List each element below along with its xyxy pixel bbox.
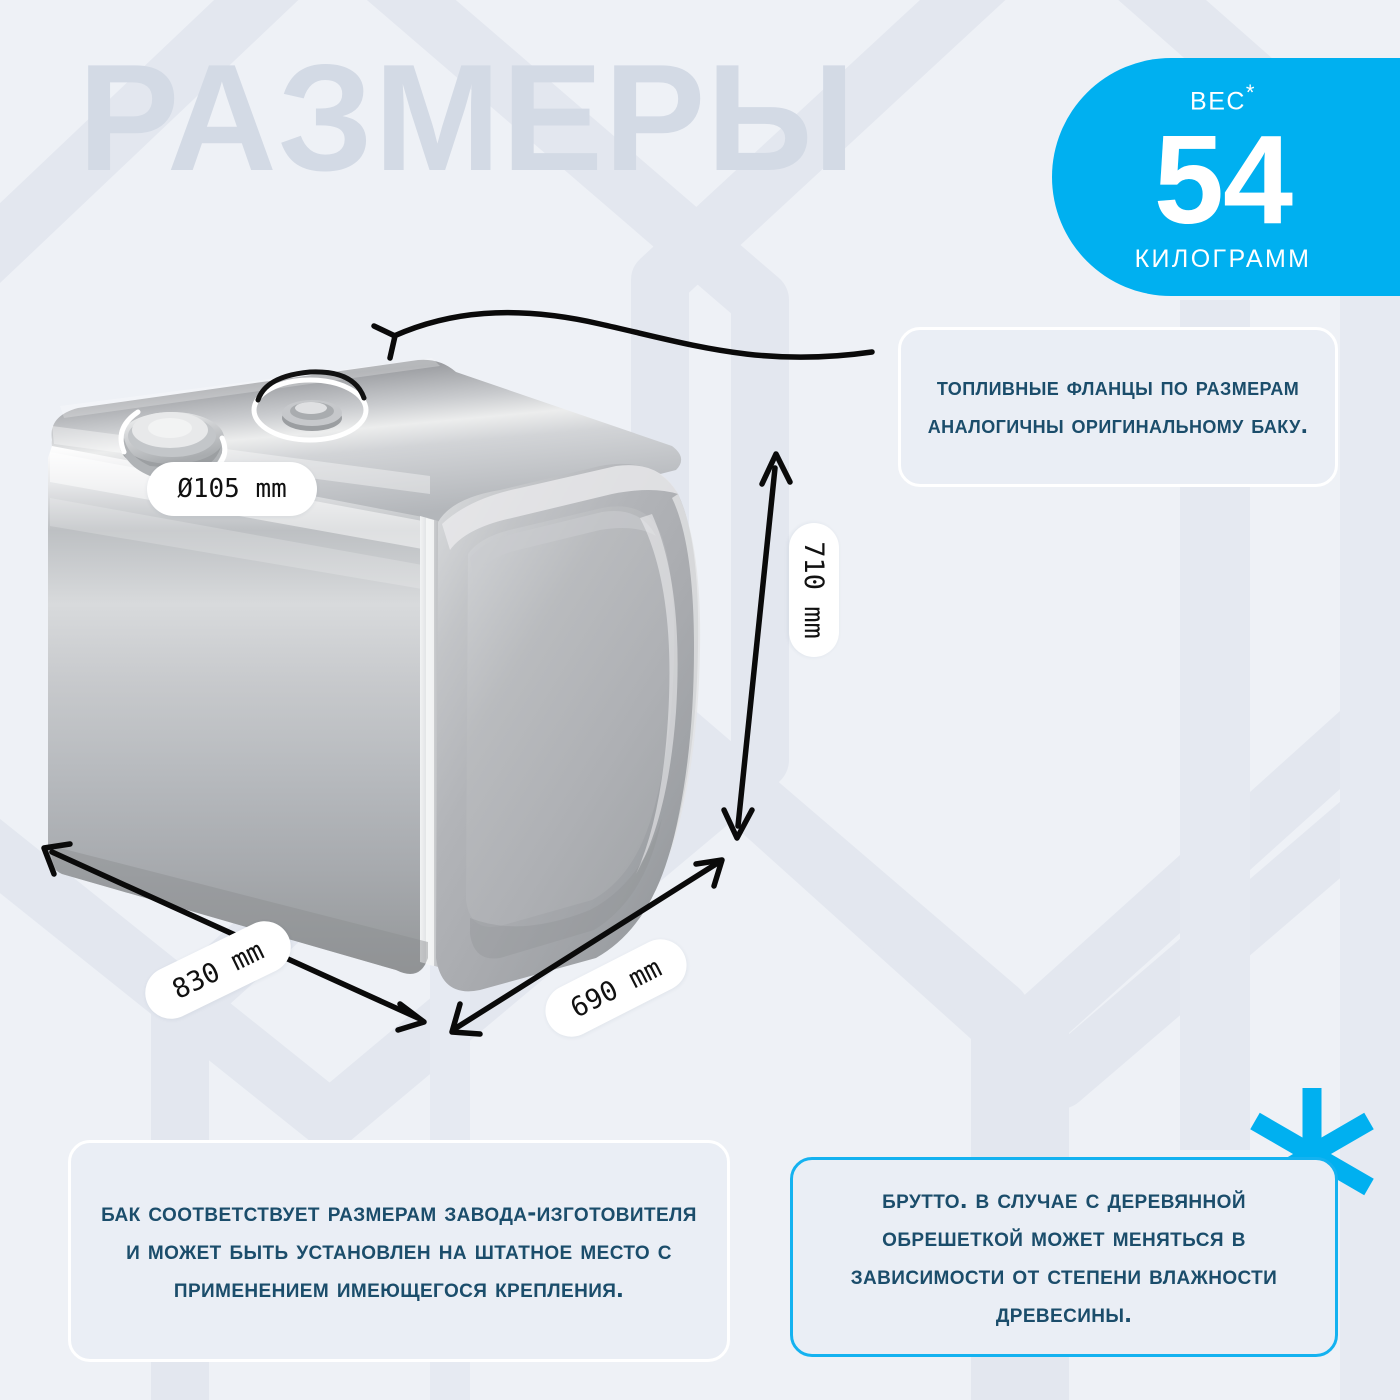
dimension-diameter-label: Ø105 mm: [147, 462, 317, 516]
weight-badge-unit: КИЛОГРАММ: [1135, 247, 1312, 272]
note-flange: Топливные Фланцы по размерам аналогичны …: [898, 327, 1338, 487]
dimension-height-label: 710 mm: [789, 523, 839, 657]
fuel-flange-icon: [282, 400, 342, 431]
fuel-tank-illustration: [0, 318, 760, 1018]
note-flange-text: Топливные Фланцы по размерам аналогичны …: [901, 369, 1335, 444]
weight-badge-value: 54: [1154, 116, 1292, 245]
note-factory-text: Бак соответствует размерам завода-изгото…: [71, 1194, 727, 1308]
note-gross-text: Брутто. В случае с деревянной обрешеткой…: [793, 1181, 1335, 1333]
weight-badge: ВЕС* 54 КИЛОГРАММ: [1052, 58, 1400, 296]
note-factory: Бак соответствует размерам завода-изгото…: [68, 1140, 730, 1362]
note-gross: Брутто. В случае с деревянной обрешеткой…: [790, 1157, 1338, 1357]
weight-label-asterisk: *: [1246, 80, 1256, 105]
page-title: РАЗМЕРЫ: [78, 42, 856, 194]
